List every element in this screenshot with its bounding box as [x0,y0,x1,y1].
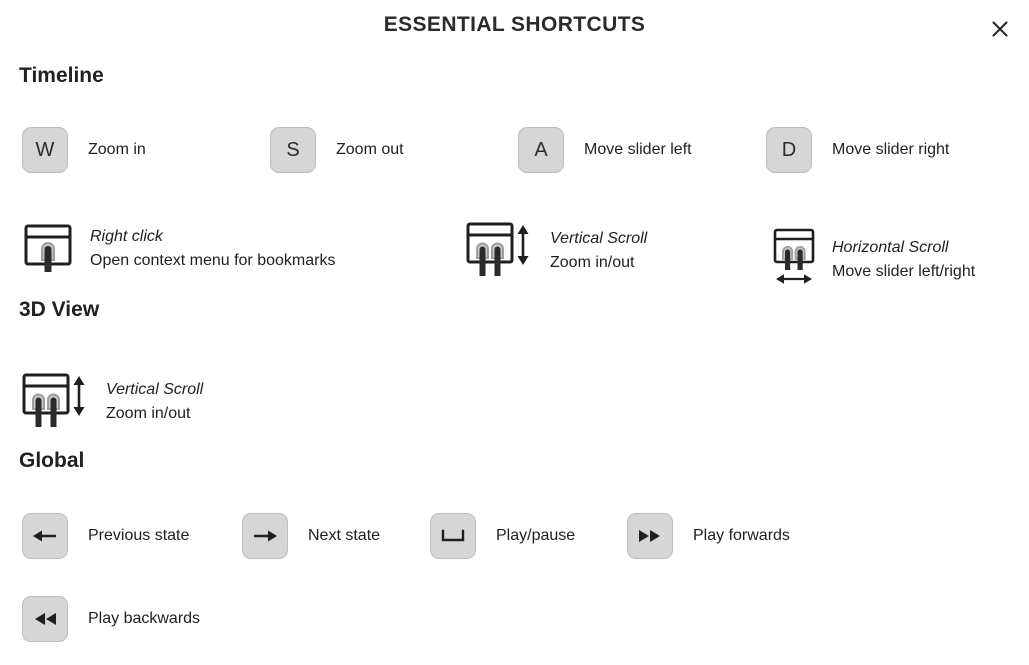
shortcut-previous-state: Previous state [22,513,189,559]
section-heading-timeline: Timeline [19,64,104,88]
keycap-fast-backward[interactable] [22,596,68,642]
shortcut-3d-vertical-scroll: Vertical Scroll Zoom in/out [20,369,203,434]
mouse-vertical-scroll-icon [464,218,536,283]
mouse-text: Vertical Scroll Zoom in/out [550,227,647,275]
keycap-w[interactable]: W [22,127,68,173]
mouse-text: Right click Open context menu for bookma… [90,225,335,273]
horizontal-double-arrow [776,274,812,284]
keycap-a[interactable]: A [518,127,564,173]
shortcut-label: Previous state [88,527,189,545]
mouse-description: Open context menu for bookmarks [90,249,335,273]
keycap-fast-forward[interactable] [627,513,673,559]
shortcut-move-slider-left: A Move slider left [518,127,692,173]
fast-forward-icon [636,527,664,545]
keycap-spacebar[interactable] [430,513,476,559]
shortcut-label: Zoom out [336,141,404,159]
mouse-description: Zoom in/out [106,402,203,426]
mouse-description: Zoom in/out [550,251,647,275]
shortcut-label: Play forwards [693,527,790,545]
mouse-right-click-icon [20,218,76,279]
keycap-arrow-left[interactable] [22,513,68,559]
shortcut-move-slider-right: D Move slider right [766,127,949,173]
section-heading-global: Global [19,449,84,473]
mouse-text: Horizontal Scroll Move slider left/right [832,236,975,284]
mouse-action: Horizontal Scroll [832,236,975,260]
shortcut-zoom-out: S Zoom out [270,127,404,173]
fast-backward-icon [31,610,59,628]
vertical-double-arrow [74,376,85,416]
mouse-text: Vertical Scroll Zoom in/out [106,378,203,426]
arrow-right-icon [252,526,278,546]
page-title: ESSENTIAL SHORTCUTS [0,13,1029,37]
mouse-vertical-scroll-icon [20,369,92,434]
close-icon [990,19,1010,39]
shortcut-zoom-in: W Zoom in [22,127,146,173]
shortcut-label: Move slider right [832,141,949,159]
shortcut-play-pause: Play/pause [430,513,575,559]
shortcut-label: Next state [308,527,380,545]
keycap-label: D [782,139,796,162]
keycap-label: W [36,139,55,162]
vertical-double-arrow [518,225,529,265]
shortcut-horizontal-scroll: Horizontal Scroll Move slider left/right [770,226,975,293]
shortcut-play-forwards: Play forwards [627,513,790,559]
shortcut-play-backwards: Play backwards [22,596,200,642]
mouse-action: Vertical Scroll [106,378,203,402]
shortcut-label: Zoom in [88,141,146,159]
shortcut-label: Play backwards [88,610,200,628]
mouse-description: Move slider left/right [832,260,975,284]
section-heading-3d-view: 3D View [19,298,99,322]
keycap-d[interactable]: D [766,127,812,173]
shortcut-right-click: Right click Open context menu for bookma… [20,218,335,279]
keycap-label: S [286,139,299,162]
mouse-action: Right click [90,225,335,249]
shortcut-vertical-scroll: Vertical Scroll Zoom in/out [464,218,647,283]
keycap-label: A [534,139,547,162]
arrow-left-icon [32,526,58,546]
shortcut-label: Play/pause [496,527,575,545]
mouse-horizontal-scroll-icon [770,226,818,293]
shortcut-label: Move slider left [584,141,692,159]
keycap-s[interactable]: S [270,127,316,173]
spacebar-icon [440,527,466,545]
close-button[interactable] [985,14,1015,44]
keycap-arrow-right[interactable] [242,513,288,559]
mouse-action: Vertical Scroll [550,227,647,251]
shortcut-next-state: Next state [242,513,380,559]
